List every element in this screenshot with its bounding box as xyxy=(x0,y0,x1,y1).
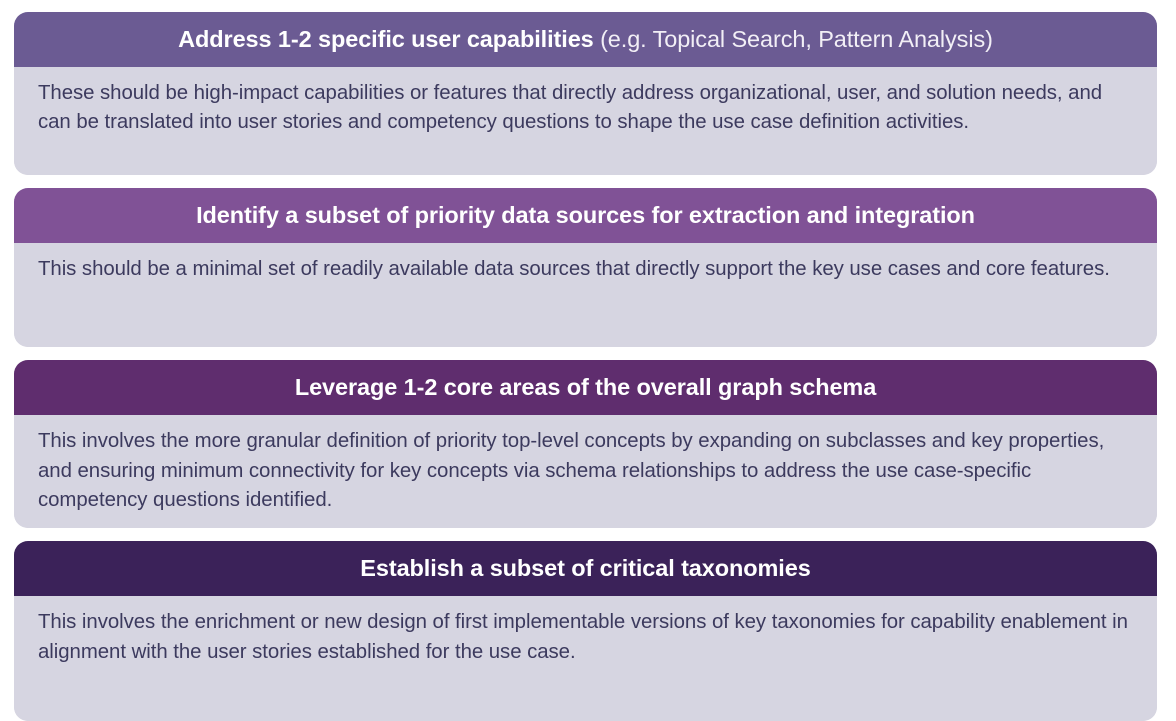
card-1-header: Address 1-2 specific user capabilities (… xyxy=(14,12,1157,67)
card-4-body-text: This involves the enrichment or new desi… xyxy=(38,608,1135,667)
card-1-header-light: (e.g. Topical Search, Pattern Analysis) xyxy=(594,26,993,52)
card-4-header-strong: Establish a subset of critical taxonomie… xyxy=(360,555,810,581)
card-1-body-text: These should be high-impact capabilities… xyxy=(38,79,1135,138)
focus-area-card-3: Leverage 1-2 core areas of the overall g… xyxy=(14,360,1157,528)
focus-area-card-4: Establish a subset of critical taxonomie… xyxy=(14,541,1157,721)
card-2-header: Identify a subset of priority data sourc… xyxy=(14,188,1157,243)
focus-area-card-1: Address 1-2 specific user capabilities (… xyxy=(14,12,1157,175)
card-2-body: This should be a minimal set of readily … xyxy=(14,243,1157,347)
focus-area-card-2: Identify a subset of priority data sourc… xyxy=(14,188,1157,347)
focus-areas-board: Address 1-2 specific user capabilities (… xyxy=(0,0,1176,706)
card-4-body: This involves the enrichment or new desi… xyxy=(14,596,1157,721)
card-3-header: Leverage 1-2 core areas of the overall g… xyxy=(14,360,1157,415)
card-2-body-text: This should be a minimal set of readily … xyxy=(38,255,1135,284)
card-3-header-strong: Leverage 1-2 core areas of the overall g… xyxy=(295,374,876,400)
card-3-body-text: This involves the more granular definiti… xyxy=(38,427,1135,515)
card-4-header: Establish a subset of critical taxonomie… xyxy=(14,541,1157,596)
card-1-body: These should be high-impact capabilities… xyxy=(14,67,1157,175)
card-2-header-strong: Identify a subset of priority data sourc… xyxy=(196,202,975,228)
card-3-body: This involves the more granular definiti… xyxy=(14,415,1157,528)
card-1-header-strong: Address 1-2 specific user capabilities xyxy=(178,26,593,52)
